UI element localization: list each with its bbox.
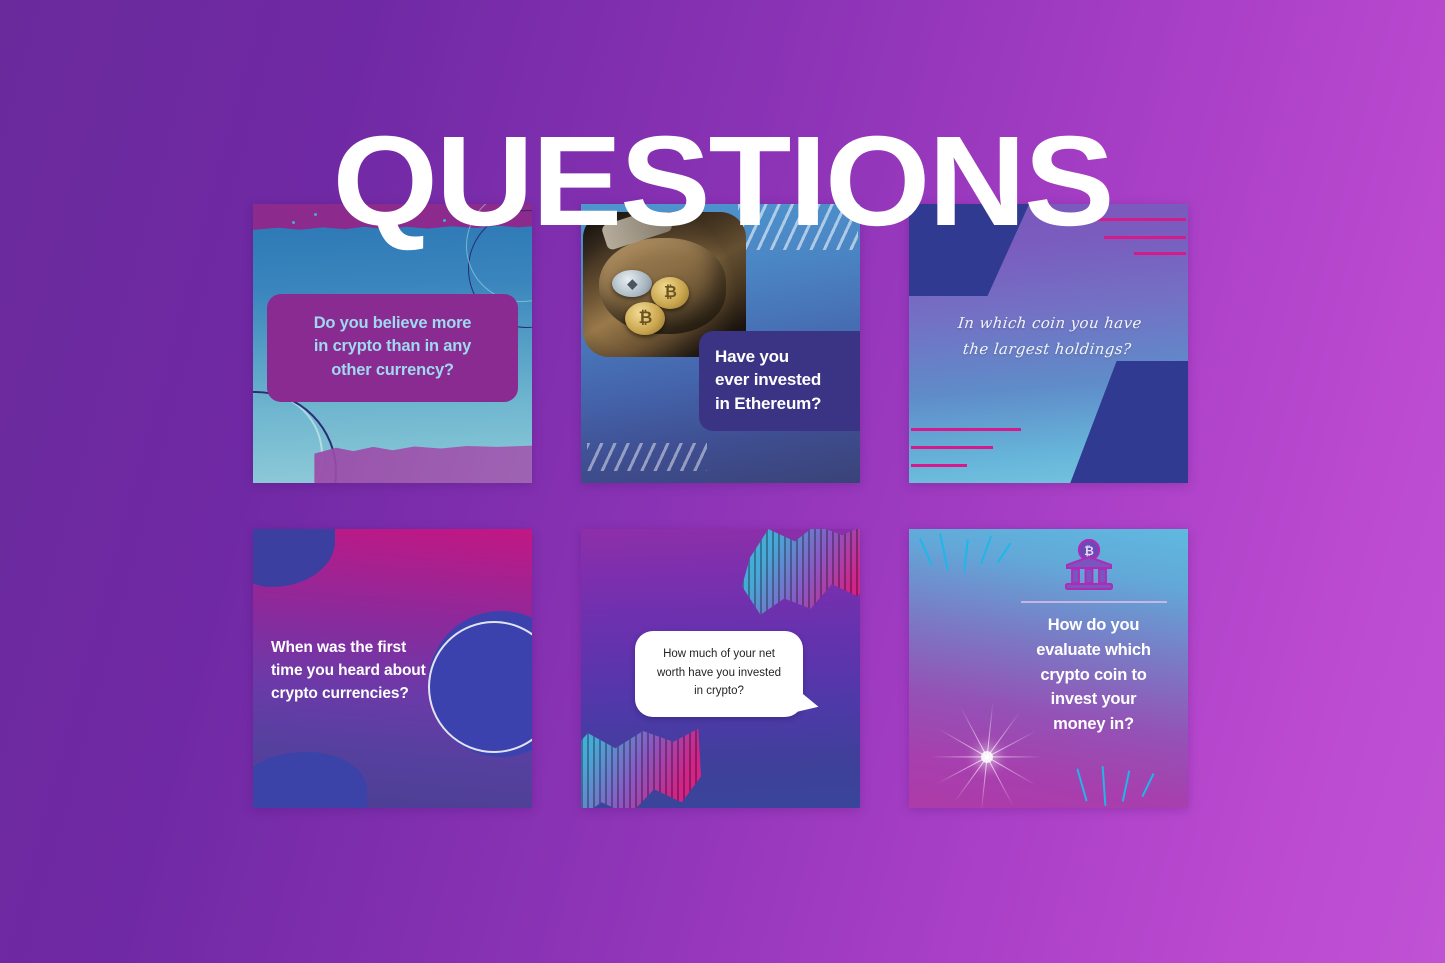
- question-line: money in?: [1009, 712, 1178, 737]
- divider: [1021, 601, 1167, 603]
- question-line: worth have you invested: [651, 664, 787, 683]
- question-line: in Ethereum?: [715, 392, 846, 415]
- question-line: crypto currencies?: [271, 683, 451, 706]
- question-script-text: In which coin you have the largest holdi…: [922, 310, 1175, 363]
- diagonal-hatch-decor: [587, 443, 707, 471]
- accent-line: [911, 464, 967, 467]
- question-line: other currency?: [281, 359, 504, 382]
- svg-text:₿: ₿: [1084, 544, 1094, 558]
- polygon-decor: [1068, 361, 1188, 483]
- blob-decor: [253, 529, 335, 587]
- blob-decor: [253, 752, 367, 808]
- question-line: evaluate which: [1009, 638, 1178, 663]
- question-line: invest your: [1009, 687, 1178, 712]
- accent-line: [1134, 252, 1186, 255]
- card-net-worth[interactable]: How much of your net worth have you inve…: [581, 529, 860, 808]
- bitcoin-coin-icon: ₿: [625, 302, 665, 335]
- question-text: How do you evaluate which crypto coin to…: [1009, 613, 1178, 737]
- question-line: When was the first: [271, 637, 451, 660]
- bottom-texture-band: [314, 441, 532, 483]
- question-line: in crypto?: [651, 682, 787, 701]
- question-line: time you heard about: [271, 660, 451, 683]
- card-first-time-heard[interactable]: When was the first time you heard about …: [253, 529, 532, 808]
- question-line: In which coin you have: [925, 310, 1175, 336]
- question-line: crypto coin to: [1009, 663, 1178, 688]
- speech-bubble: How much of your net worth have you inve…: [635, 631, 803, 717]
- question-line: in crypto than in any: [281, 335, 504, 358]
- bitcoin-bank-icon: ₿: [1061, 539, 1117, 593]
- accent-line: [911, 428, 1021, 431]
- striped-wave-decor: [742, 529, 860, 623]
- question-line: Have you: [715, 345, 846, 368]
- question-box: Do you believe more in crypto than in an…: [267, 294, 518, 402]
- page-title: QUESTIONS: [0, 118, 1445, 246]
- speech-bubble-tail: [791, 687, 820, 716]
- question-line: Do you believe more: [281, 312, 504, 335]
- accent-line: [911, 446, 993, 449]
- question-line: the largest holdings?: [922, 336, 1172, 362]
- question-box: Have you ever invested in Ethereum?: [699, 331, 860, 431]
- striped-wave-decor: [581, 718, 701, 808]
- card-evaluate-coin[interactable]: ₿ How do you evaluate which crypto coin …: [909, 529, 1188, 808]
- question-line: How much of your net: [651, 645, 787, 664]
- question-line: How do you: [1009, 613, 1178, 638]
- question-text: When was the first time you heard about …: [271, 637, 451, 706]
- poster-canvas: QUESTIONS Do you believe mo: [0, 0, 1445, 963]
- question-line: ever invested: [715, 368, 846, 391]
- card-grid: Do you believe more in crypto than in an…: [253, 204, 1188, 808]
